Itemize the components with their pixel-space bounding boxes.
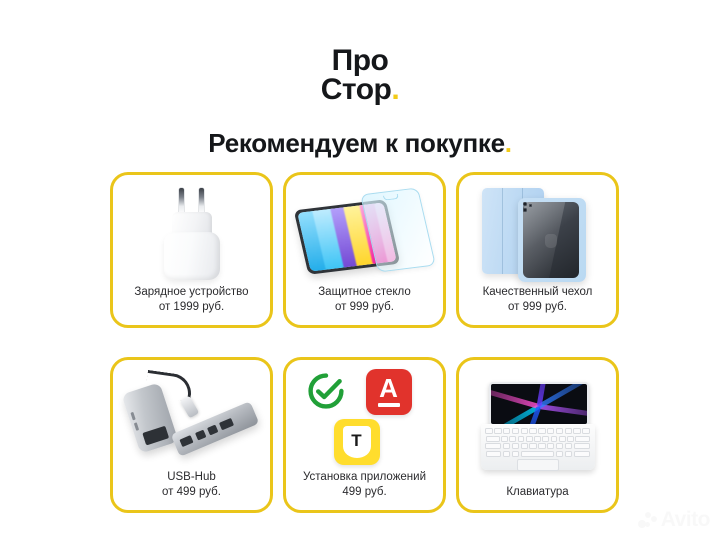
promo-banner: Про Стор. Рекомендуем к покупке. Зарядно… <box>0 0 720 540</box>
product-label-case: Качественный чехол от 999 руб. <box>483 285 593 319</box>
product-label-charger: Зарядное устройство от 1999 руб. <box>134 285 248 319</box>
product-label-screen-protector: Защитное стекло от 999 руб. <box>318 285 411 319</box>
avito-watermark-text: Avito <box>661 508 710 532</box>
page-title-dot: . <box>505 128 512 158</box>
product-price: от 999 руб. <box>318 300 411 315</box>
avito-watermark: Avito <box>638 508 710 532</box>
case-with-tablet <box>518 198 586 282</box>
product-title: USB-Hub <box>167 471 216 483</box>
page-title: Рекомендуем к покупке. <box>0 128 720 159</box>
product-price: от 999 руб. <box>483 300 593 315</box>
alfa-bank-icon: A <box>366 369 412 415</box>
product-card-case[interactable]: Качественный чехол от 999 руб. <box>456 172 619 328</box>
keyboard-base <box>481 424 595 470</box>
product-card-screen-protector[interactable]: Защитное стекло от 999 руб. <box>283 172 446 328</box>
product-card-charger[interactable]: Зарядное устройство от 1999 руб. <box>110 172 273 328</box>
product-label-usb-hub: USB-Hub от 499 руб. <box>162 470 221 504</box>
product-grid: Зарядное устройство от 1999 руб. <box>110 172 620 513</box>
avito-logo-icon <box>638 511 657 530</box>
product-price: 499 руб. <box>303 485 426 500</box>
bank-app-icons: A T <box>300 369 430 469</box>
product-card-usb-hub[interactable]: USB-Hub от 499 руб. <box>110 357 273 513</box>
brand-logo: Про Стор. <box>0 46 720 105</box>
product-image-keyboard <box>465 368 610 485</box>
product-title: Установка приложений <box>303 471 426 483</box>
trackpad <box>517 459 559 471</box>
product-title: Защитное стекло <box>318 286 411 298</box>
product-image-screen-protector <box>292 183 437 285</box>
product-card-app-install[interactable]: A T Установка приложений 499 руб. <box>283 357 446 513</box>
product-title: Клавиатура <box>506 486 568 498</box>
tablet-case-icon <box>478 186 598 282</box>
product-image-charger <box>119 183 264 285</box>
product-title: Качественный чехол <box>483 286 593 298</box>
product-price: от 1999 руб. <box>134 300 248 315</box>
power-adapter-icon <box>164 188 220 280</box>
product-image-usb-hub <box>119 368 264 470</box>
brand-logo-dot: . <box>391 73 399 106</box>
camera-icon <box>523 202 537 213</box>
product-label-keyboard: Клавиатура <box>506 485 568 504</box>
usb-c-connector-icon <box>179 395 199 418</box>
magic-keyboard-icon <box>479 380 597 472</box>
brand-logo-word: Стор <box>321 73 392 106</box>
product-image-case <box>465 183 610 285</box>
tablet-with-glass-icon <box>295 188 435 280</box>
tinkoff-icon: T <box>334 419 380 465</box>
page-title-text: Рекомендуем к покупке <box>208 128 504 158</box>
brand-logo-line-1: Про <box>0 46 720 75</box>
product-title: Зарядное устройство <box>134 286 248 298</box>
sber-check-icon <box>306 371 346 411</box>
product-price: от 499 руб. <box>162 485 221 500</box>
usb-hub-icon <box>122 371 262 467</box>
product-label-app-install: Установка приложений 499 руб. <box>303 470 426 504</box>
tablet-screen <box>489 382 589 426</box>
alfa-letter: A <box>379 377 398 401</box>
tinkoff-letter: T <box>351 432 361 449</box>
brand-logo-line-2: Стор. <box>0 75 720 104</box>
product-card-keyboard[interactable]: Клавиатура <box>456 357 619 513</box>
product-image-app-install: A T <box>292 368 437 470</box>
